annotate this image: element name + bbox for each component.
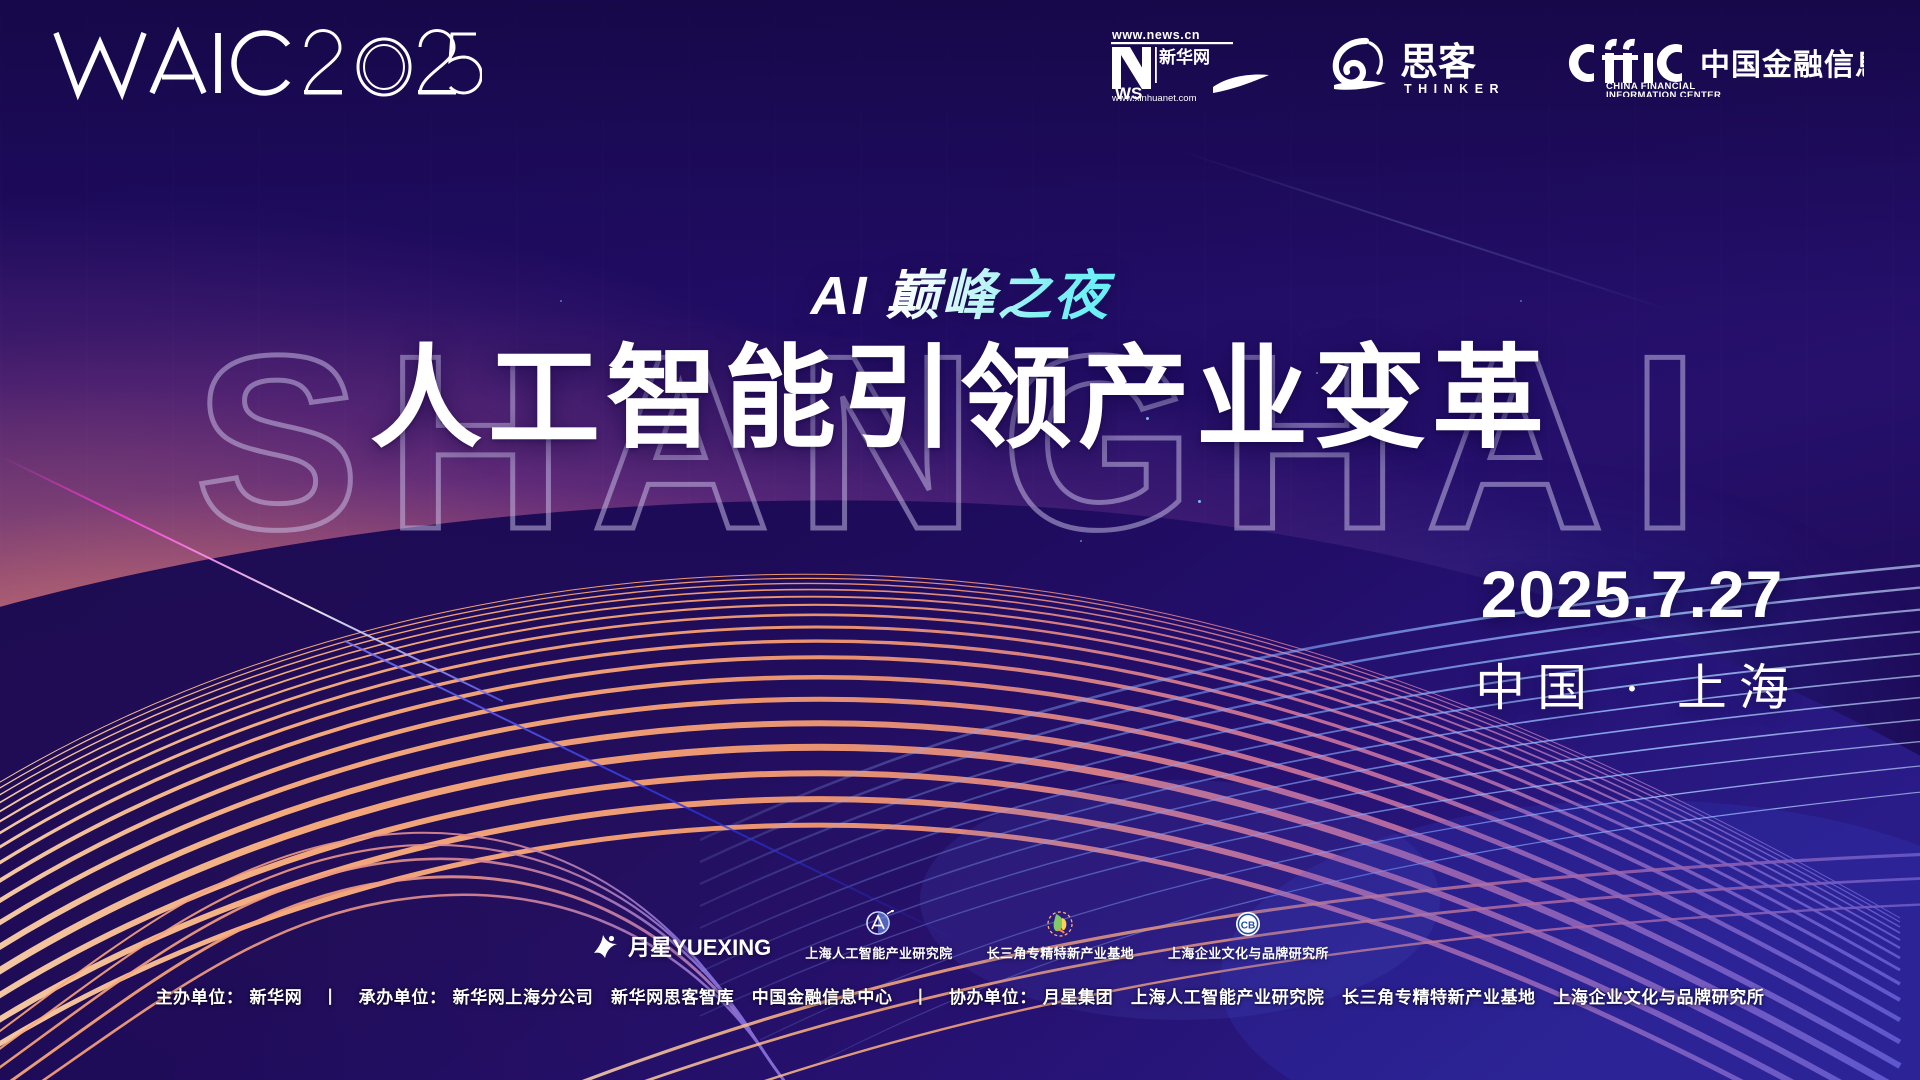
svg-text:CB: CB [1241, 921, 1255, 932]
sponsor-ai-institute: 上海人工智能产业研究院 [805, 910, 952, 962]
credits-organizer-label: 承办单位： [356, 983, 450, 1008]
yuexing-star-icon [591, 931, 621, 961]
svg-text:www.xinhuanet.com: www.xinhuanet.com [1111, 93, 1197, 101]
sparkle-dot [1198, 500, 1201, 503]
svg-text:思客: 思客 [1400, 40, 1476, 84]
sponsor-yuexing: 月星YUEXING [591, 930, 771, 962]
sponsor-name-yuexing: 月星YUEXING [628, 930, 771, 962]
thinker-icon: 思客 THINKER [1324, 31, 1524, 97]
event-location: 中国 · 上海 [1422, 648, 1842, 720]
sponsor-name-yrd-base: 长三角专精特新产业基地 [987, 943, 1134, 962]
partner-logo-xinhuanet: www.news.cn WS 新华网 [1109, 27, 1284, 101]
partner-logos: www.news.cn WS 新华网 [1109, 27, 1880, 101]
credits-separator-2: 丨 [901, 983, 941, 1008]
credits-host-label: 主办单位： [153, 983, 247, 1008]
event-headline: 人工智能引领产业变革 [0, 337, 1920, 460]
sponsor-name-ai-institute: 上海人工智能产业研究院 [805, 943, 952, 962]
partner-logo-cfic: 中国金融信息中心 CHINA FINANCIAL INFORMATION CEN… [1564, 31, 1864, 97]
svg-text:www.news.cn: www.news.cn [1111, 28, 1200, 42]
poster-canvas: SHANGHAI [0, 0, 1920, 1080]
xinhuanet-icon: www.news.cn WS 新华网 [1109, 27, 1284, 101]
sponsor-culture-brand: CB 上海企业文化与品牌研究所 [1168, 910, 1329, 962]
credits-organizer-values: 新华网上海分公司 新华网思客智库 中国金融信息中心 [450, 983, 896, 1008]
credits-line: 主办单位：新华网 丨 承办单位：新华网上海分公司 新华网思客智库 中国金融信息中… [0, 983, 1920, 1008]
sponsor-yrd-base: 长三角专精特新产业基地 [987, 910, 1134, 962]
date-location-block: 2025.7.27 中国 · 上海 [1422, 556, 1842, 720]
credits-coorganizer-values: 月星集团 上海人工智能产业研究院 长三角专精特新产业基地 上海企业文化与品牌研究… [1040, 983, 1768, 1008]
sponsor-name-culture-brand: 上海企业文化与品牌研究所 [1168, 943, 1329, 962]
industry-base-icon [1045, 910, 1075, 940]
waic-logo-icon [52, 27, 482, 101]
svg-text:新华网: 新华网 [1159, 47, 1210, 68]
ai-institute-icon [864, 910, 894, 940]
sponsor-logo-row: 月星YUEXING 上海人工智能产业研究院 [0, 910, 1920, 962]
headline-block: AI 巅峰之夜 人工智能引领产业变革 [0, 268, 1920, 460]
cfic-icon: 中国金融信息中心 CHINA FINANCIAL INFORMATION CEN… [1564, 31, 1864, 97]
sparkle-dot [1080, 540, 1082, 542]
svg-text:INFORMATION CENTER: INFORMATION CENTER [1606, 90, 1721, 97]
partner-logo-thinker: 思客 THINKER [1324, 31, 1524, 97]
event-date: 2025.7.27 [1422, 556, 1842, 632]
waic-logo [52, 27, 482, 101]
culture-brand-icon: CB [1233, 910, 1263, 940]
credits-separator-1: 丨 [311, 983, 351, 1008]
credits-host-value: 新华网 [247, 983, 306, 1008]
credits-coorganizer-label: 协办单位： [946, 983, 1040, 1008]
svg-text:中国金融信息中心: 中国金融信息中心 [1700, 48, 1864, 83]
event-subtitle: AI 巅峰之夜 [804, 268, 1115, 331]
svg-text:THINKER: THINKER [1404, 82, 1505, 96]
top-bar: www.news.cn WS 新华网 [0, 0, 1920, 128]
